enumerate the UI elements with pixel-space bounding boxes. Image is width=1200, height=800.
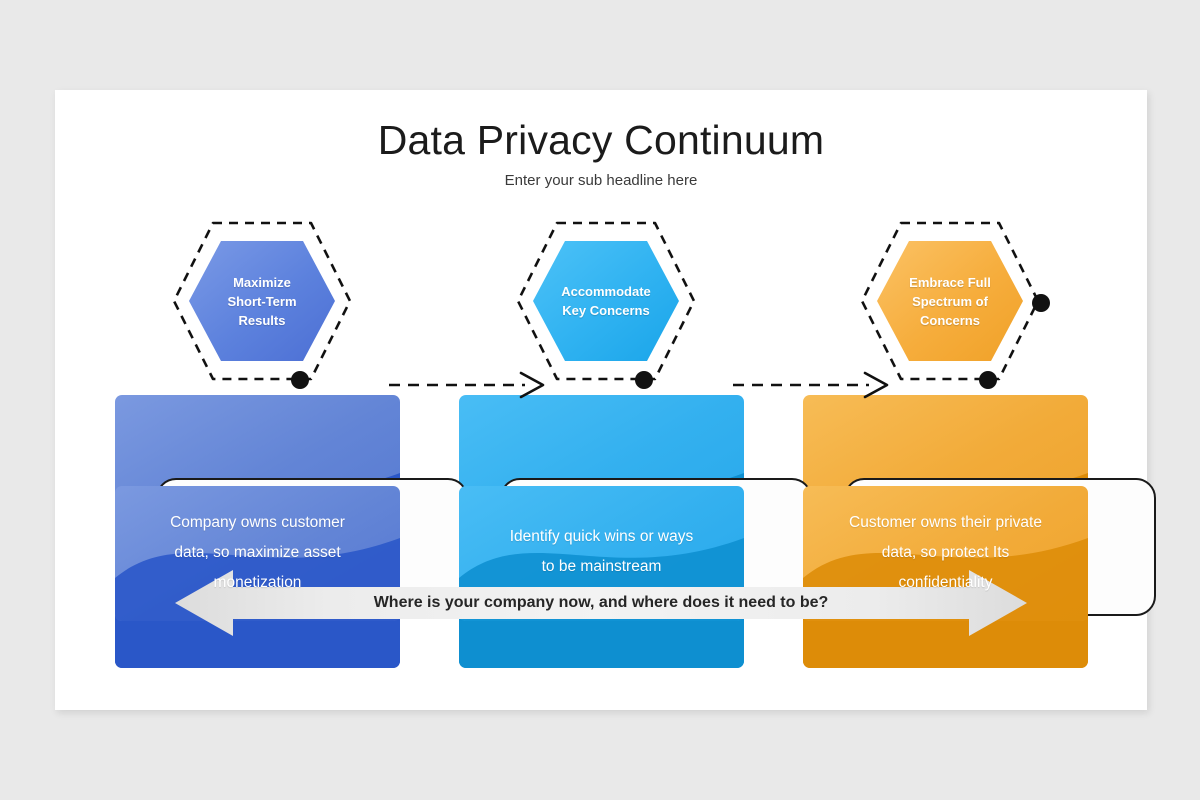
slide-canvas: Data Privacy Continuum Enter your sub he… bbox=[55, 90, 1147, 710]
card-line: Identify quick wins or ways bbox=[459, 522, 744, 552]
card-line: data, so protect Its bbox=[803, 538, 1088, 568]
direction-banner[interactable]: Where is your company now, and where doe… bbox=[175, 568, 1027, 638]
direction-banner-text: Where is your company now, and where doe… bbox=[175, 568, 1027, 638]
card-line: Customer owns their private bbox=[803, 508, 1088, 538]
banner-layer: Where is your company now, and where doe… bbox=[55, 90, 1147, 710]
card-line: data, so maximize asset bbox=[115, 538, 400, 568]
card-line: Company owns customer bbox=[115, 508, 400, 538]
screenshot-root: Data Privacy Continuum Enter your sub he… bbox=[0, 0, 1200, 800]
